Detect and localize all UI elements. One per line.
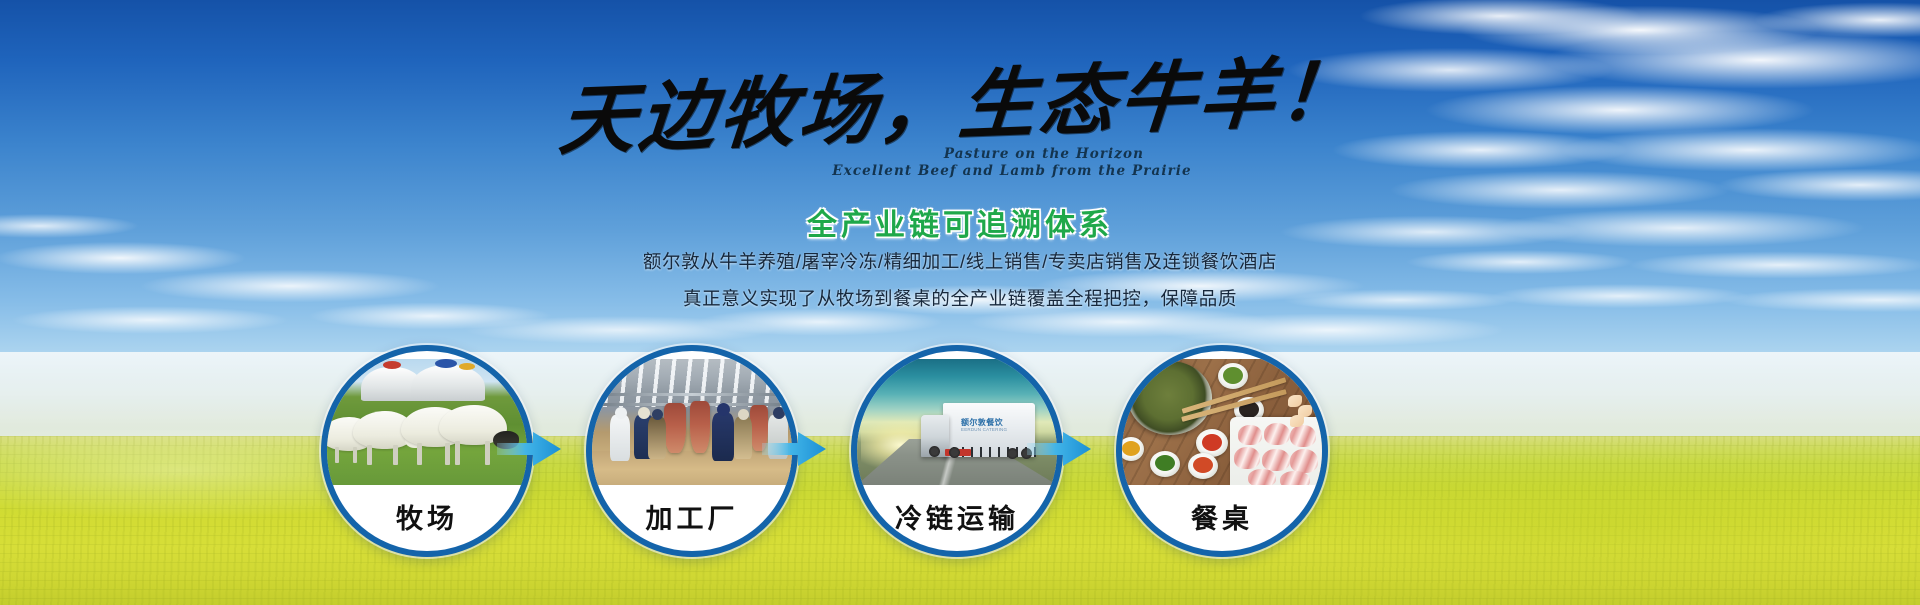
flow-arrow-1-icon [497,429,563,469]
english-subtitle-line-1: Pasture on the Horizon [168,146,1920,163]
shrimp-icon [1290,415,1304,427]
sheep-leg [393,445,398,465]
bowl-greens-icon [1223,367,1243,384]
description-line-1: 额尔敦从牛羊养殖/屠宰冷冻/精细加工/线上销售/专卖店销售及连锁餐饮酒店 [0,248,1920,274]
meat-roll-icon [1262,449,1290,471]
meat-roll-icon [1280,471,1310,485]
bowl-cilantro-icon [1155,455,1175,471]
truck-logo-subtext: EERDUN CATERING [961,427,1007,432]
description-line-2: 真正意义实现了从牧场到餐桌的全产业链覆盖全程把控，保障品质 [0,285,1920,311]
meat-roll-icon [1248,469,1276,485]
bowl-condiment-icon [1122,441,1140,456]
yurt-crown-gold-icon [459,363,475,370]
carcass-icon-2 [690,401,710,453]
ceiling-beams-icon [592,359,792,407]
promotional-banner: 天边牧场，生态牛羊！ Pasture on the Horizon Excell… [0,0,1920,605]
english-subtitle-group: Pasture on the Horizon Excellent Beef an… [0,146,1920,180]
flow-arrow-2-icon [762,429,828,469]
headline-block: 天边牧场，生态牛羊！ Pasture on the Horizon Excell… [0,0,1920,340]
hotpot-rim-icon [1122,359,1218,440]
dining-table-scene-icon [1122,359,1322,485]
node-label-factory: 加工厂 [592,497,792,536]
meat-roll-icon [1264,423,1290,445]
sheep-leg [455,441,460,465]
green-headline: 全产业链可追溯体系 [0,200,1920,244]
bowl-chili-icon [1202,434,1222,451]
node-ring-table: 餐桌 [1116,345,1328,557]
sheep-leg [367,445,372,465]
sheep-leg [353,447,357,463]
sheep-leg [417,443,422,465]
supply-chain-flow: 牧场 [0,345,1920,560]
english-subtitle-line-2: Excellent Beef and Lamb from the Prairie [104,163,1920,180]
conveyor-rail-icon [592,393,792,396]
node-label-table: 餐桌 [1122,497,1322,536]
truck-wheel-icon [1007,448,1018,459]
flow-arrow-3-icon [1027,429,1093,469]
yurt-crown-red-icon [383,361,401,369]
meat-roll-icon [1290,425,1316,447]
node-label-pasture: 牧场 [327,497,527,536]
truck-wheel-icon [929,446,940,457]
meat-roll-icon [1290,449,1318,473]
bowl-chili-icon-2 [1193,457,1213,473]
meat-roll-icon [1238,425,1262,445]
yurt-crown-blue-icon [435,359,457,368]
yurt-icon-right [411,365,485,401]
table-photo [1122,359,1322,485]
sheep-leg [335,447,339,463]
sheep-leg [485,441,490,465]
node-label-coldchain: 冷链运输 [857,497,1057,536]
truck-wheel-icon [949,447,960,458]
meat-roll-icon [1234,447,1260,469]
flow-node-table[interactable]: 餐桌 [1116,345,1328,557]
carcass-icon-1 [664,403,686,453]
sheep-leg [445,443,450,465]
